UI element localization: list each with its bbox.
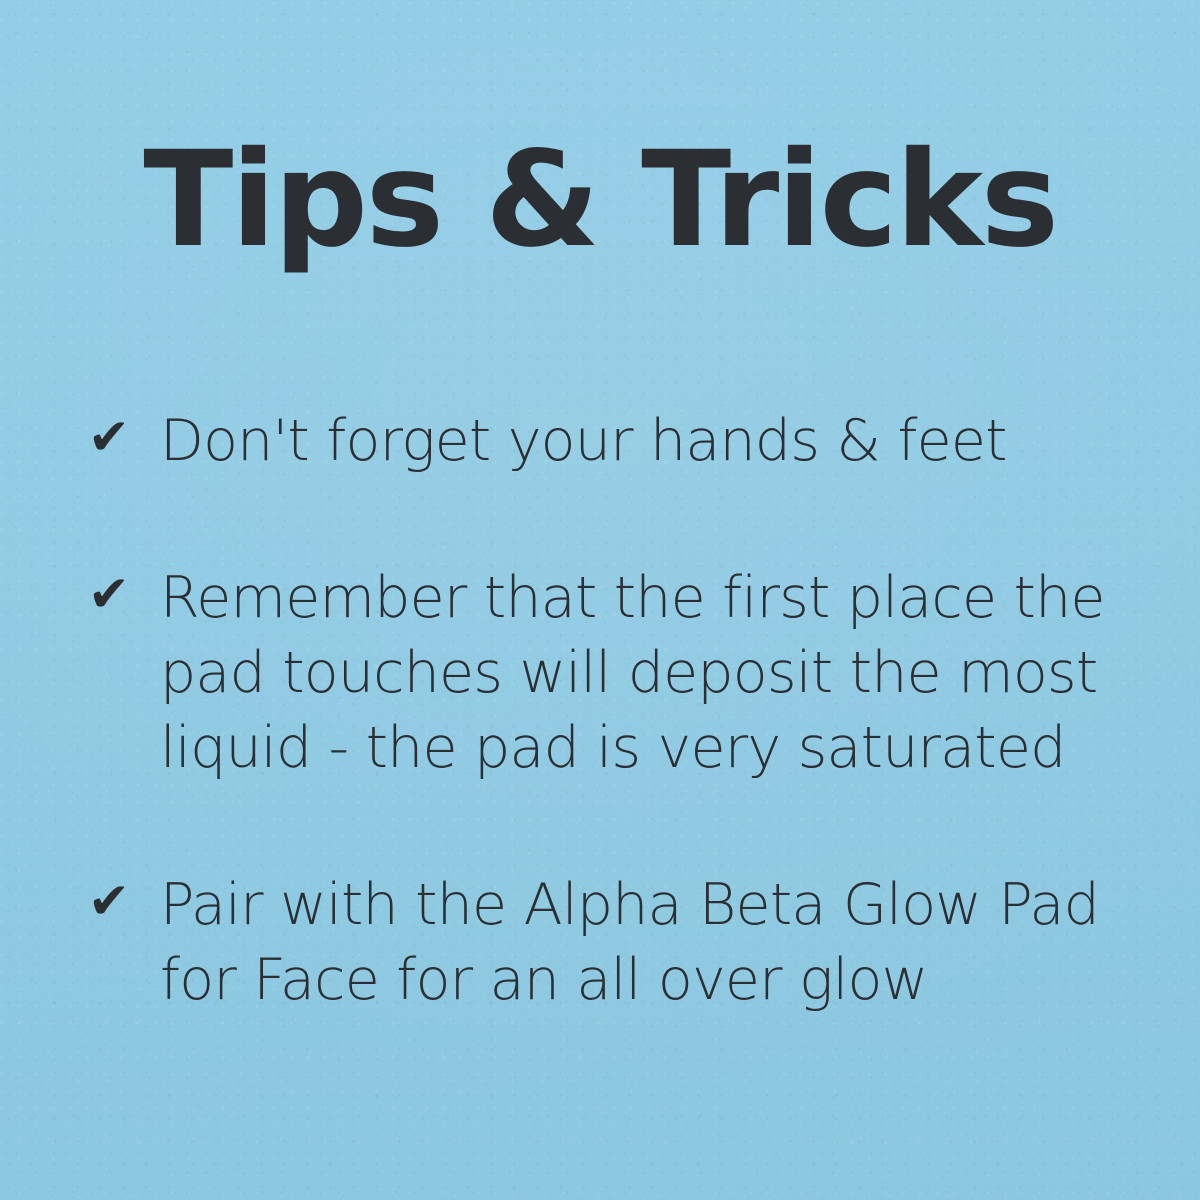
- check-icon: ✔: [88, 407, 140, 467]
- list-item: ✔ Remember that the first place the pad …: [88, 561, 1148, 786]
- list-item-text: Don't forget your hands & feet: [160, 404, 1148, 479]
- list-item-text: Pair with the Alpha Beta Glow Pad for Fa…: [160, 868, 1148, 1018]
- check-icon: ✔: [88, 564, 140, 624]
- check-icon: ✔: [88, 871, 140, 931]
- list-item-text: Remember that the first place the pad to…: [160, 561, 1148, 786]
- page-title: Tips & Tricks: [0, 134, 1200, 266]
- list-item: ✔ Don't forget your hands & feet: [88, 404, 1148, 479]
- tips-list: ✔ Don't forget your hands & feet ✔ Remem…: [88, 404, 1148, 1018]
- slide-canvas: Tips & Tricks ✔ Don't forget your hands …: [0, 0, 1200, 1200]
- list-item: ✔ Pair with the Alpha Beta Glow Pad for …: [88, 868, 1148, 1018]
